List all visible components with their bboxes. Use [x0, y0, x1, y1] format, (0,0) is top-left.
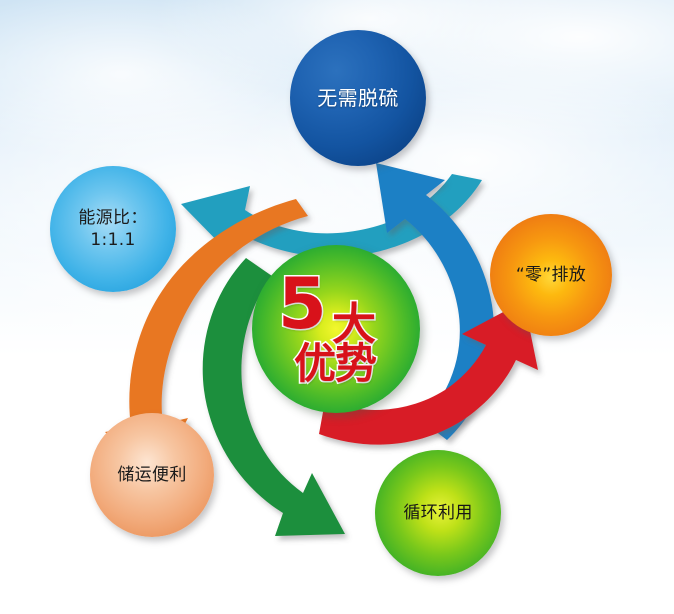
center-node-5-advantages[interactable]: 5 大 优势 — [252, 245, 420, 413]
node-recycling[interactable]: 循环利用 — [375, 450, 501, 576]
node-easy-storage-transport[interactable]: 储运便利 — [90, 413, 214, 537]
node-no-desulfurization[interactable]: 无需脱硫 — [290, 30, 426, 166]
node-zero-emission[interactable]: “零”排放 — [490, 214, 612, 336]
node-label-recycling: 循环利用 — [403, 502, 472, 524]
node-energy-ratio[interactable]: 能源比： 1:1.1 — [50, 166, 176, 292]
node-label-easy-storage-transport: 储运便利 — [117, 464, 186, 486]
center-number: 5 — [278, 269, 327, 339]
center-node-text: 5 大 优势 — [252, 245, 420, 413]
node-label-no-desulfurization: 无需脱硫 — [317, 85, 399, 111]
center-word-youshi: 优势 — [294, 343, 376, 385]
node-label-zero-emission: “零”排放 — [516, 264, 586, 286]
diagram-canvas: 无需脱硫 能源比： 1:1.1 “零”排放 储运便利 循环利用 5 大 优势 — [0, 0, 674, 614]
node-label-energy-ratio: 能源比： 1:1.1 — [78, 207, 147, 252]
